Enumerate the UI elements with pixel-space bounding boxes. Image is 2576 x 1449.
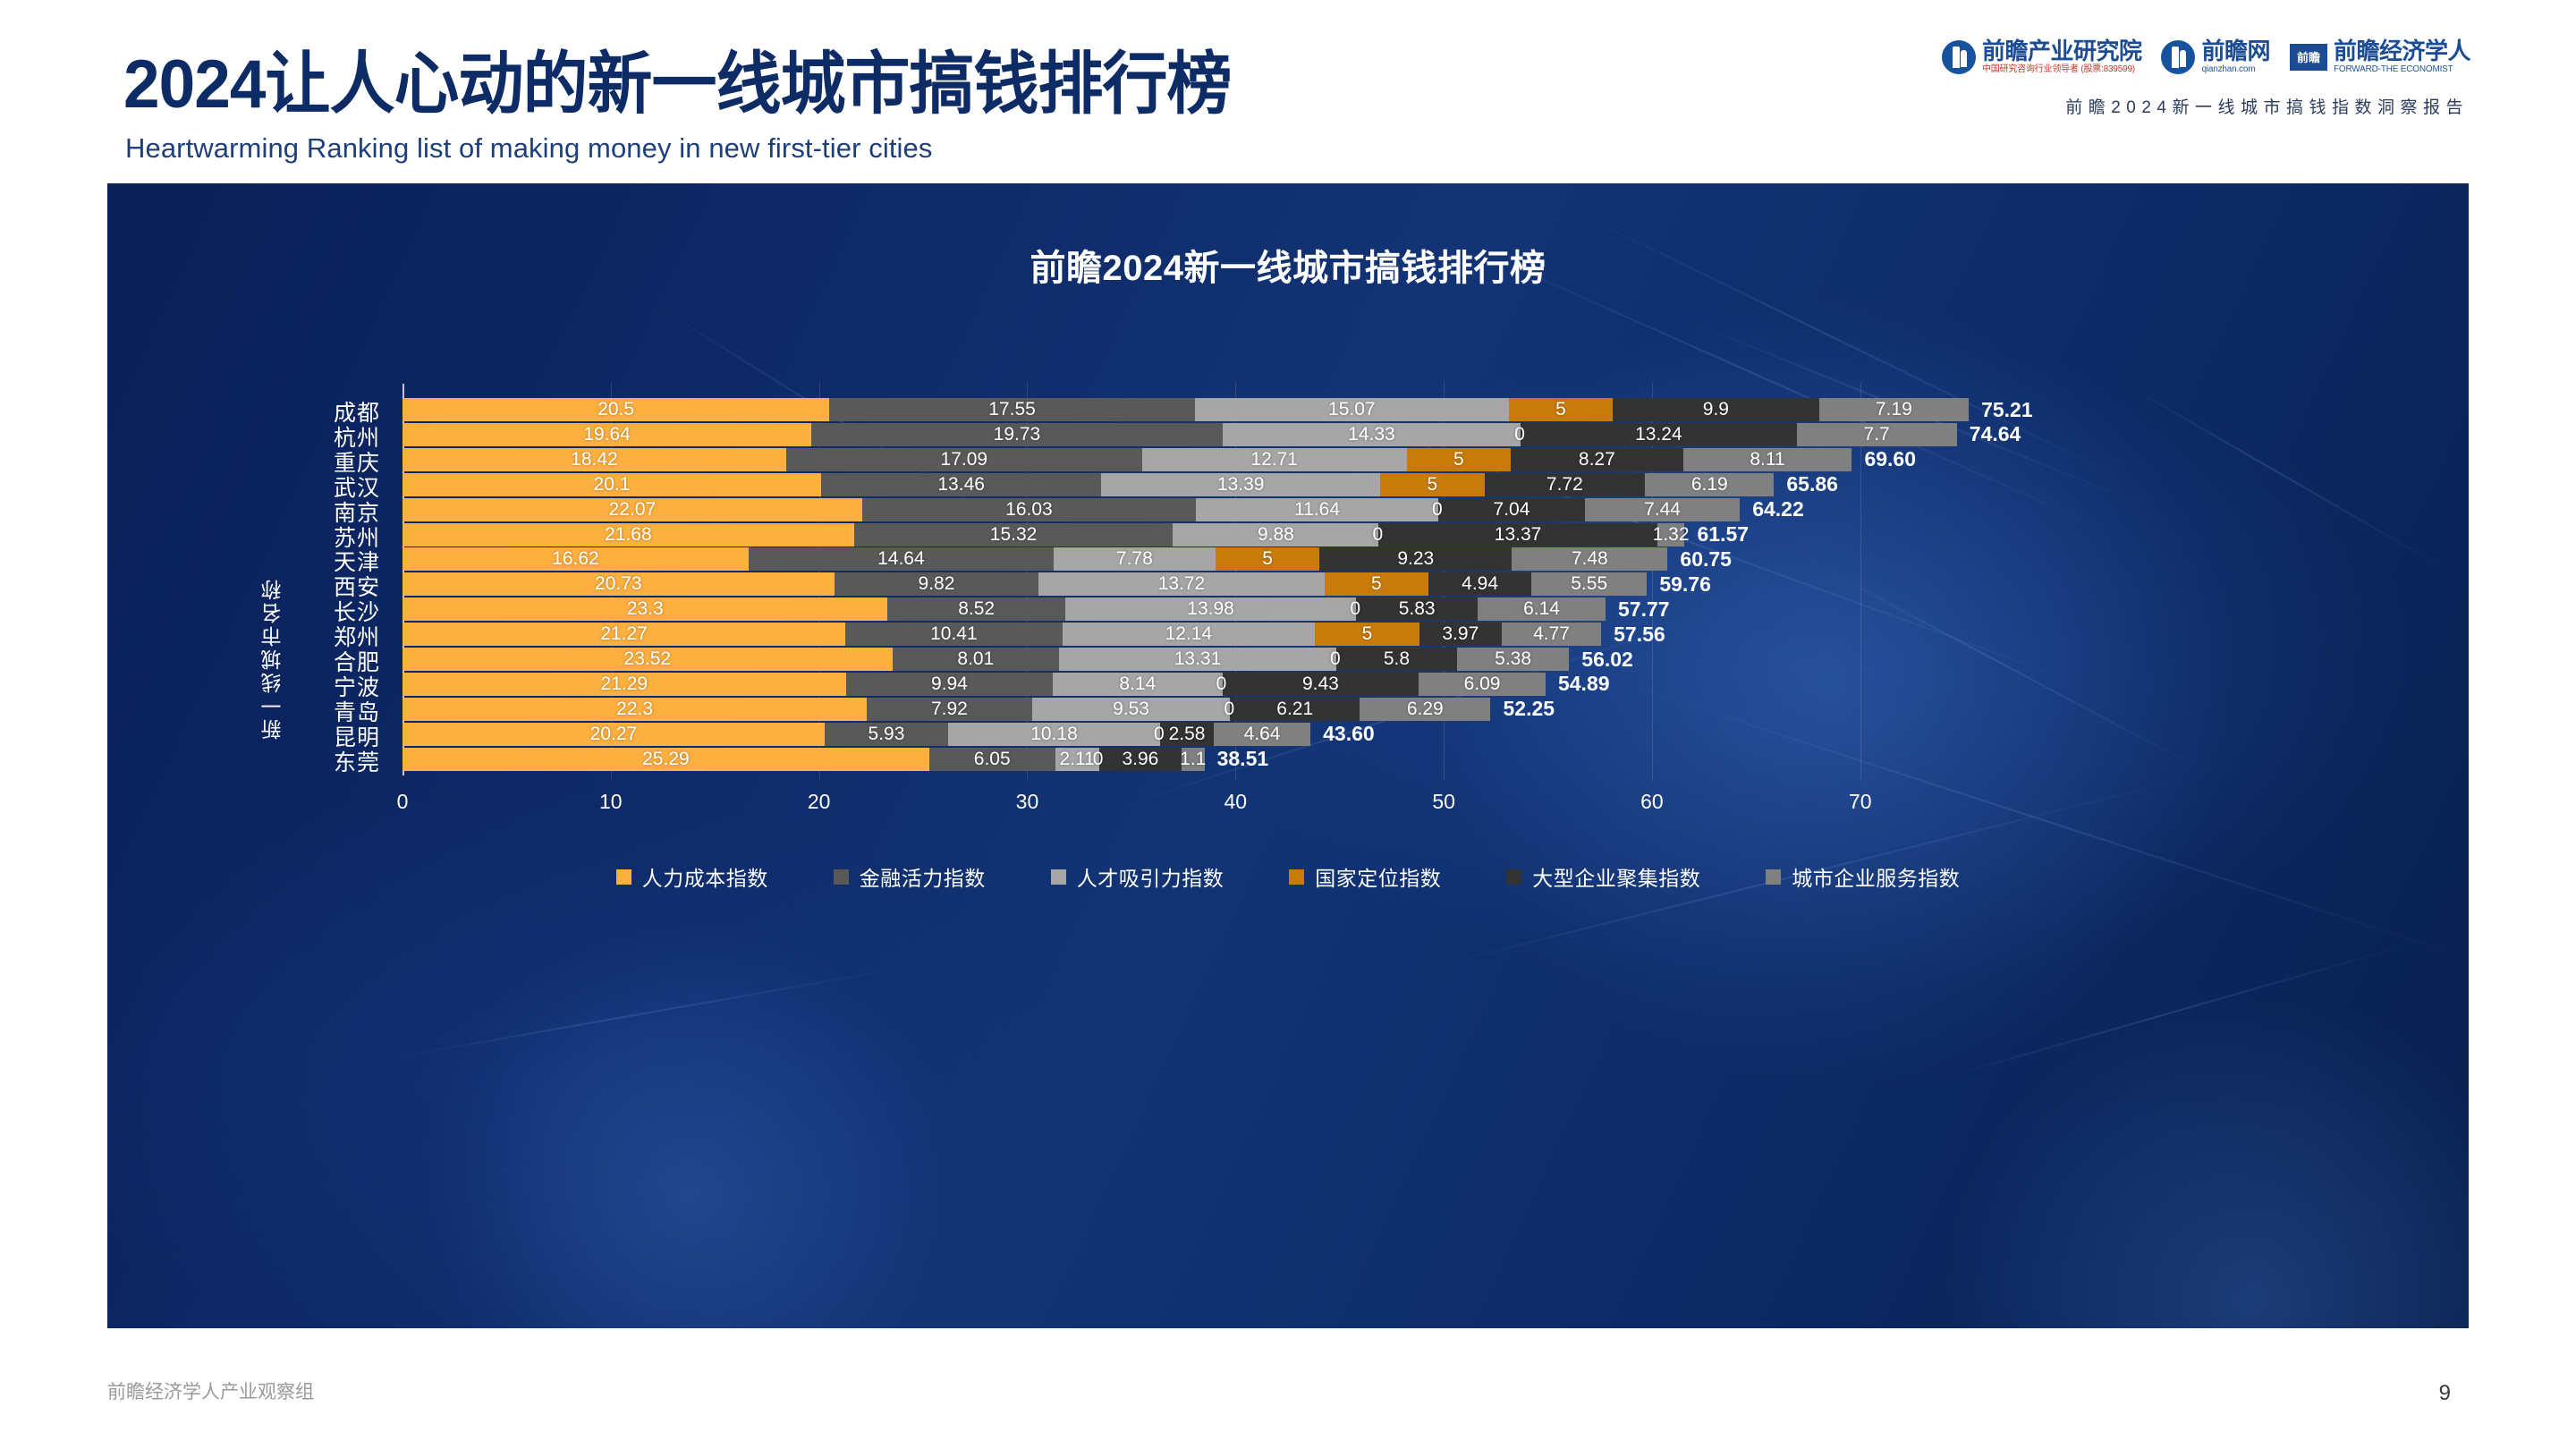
- bar-segment: 8.01: [893, 648, 1059, 671]
- bar-row: 19.6419.7314.33013.247.7: [402, 423, 1957, 446]
- bar-row: 23.528.0113.3105.85.38: [402, 648, 1569, 671]
- x-axis-tick-label: 70: [1849, 790, 1872, 814]
- logo-qianzhan-web: 前瞻网 qianzhan.com: [2161, 39, 2270, 74]
- bar-segment: 5.38: [1457, 648, 1569, 671]
- bar-segment: 7.48: [1512, 547, 1667, 571]
- segment-value-label: 14.64: [877, 548, 925, 570]
- bar-segment: 4.94: [1428, 572, 1531, 596]
- report-tagline: 前瞻2024新一线城市搞钱指数洞察报告: [2065, 94, 2469, 118]
- legend-swatch: [1289, 869, 1304, 885]
- segment-value-label: 5: [1427, 474, 1437, 496]
- legend-item[interactable]: 人才吸引力指数: [1051, 861, 1224, 892]
- bar-segment: 6.29: [1360, 698, 1490, 721]
- segment-value-label: 25.29: [642, 749, 690, 770]
- bar-segment: 8.14: [1053, 673, 1223, 696]
- segment-value-label: 6.14: [1523, 598, 1560, 620]
- bar-segment: 5: [1325, 572, 1428, 596]
- legend-label: 金融活力指数: [860, 861, 986, 892]
- segment-value-label: 16.62: [552, 548, 599, 570]
- segment-value-label: 8.52: [958, 598, 995, 620]
- bar-segment: 21.29: [402, 673, 846, 696]
- segment-value-label: 8.27: [1579, 449, 1615, 470]
- segment-value-label: 1.1: [1180, 749, 1206, 770]
- legend-swatch: [1051, 869, 1066, 885]
- bar-segment: 13.98: [1065, 597, 1356, 621]
- bar-segment: 10.18: [948, 723, 1160, 746]
- legend-item[interactable]: 人力成本指数: [616, 861, 768, 892]
- segment-value-label: 13.31: [1174, 648, 1222, 670]
- bar-row: 20.113.4613.3957.726.19: [402, 473, 1774, 496]
- logo-label-en: FORWARD-THE ECONOMIST: [2334, 65, 2470, 74]
- segment-value-label: 13.72: [1158, 573, 1206, 595]
- bar-segment: 5: [1315, 623, 1419, 646]
- logo-qianzhan-economist: 前瞻 前瞻经济学人 FORWARD-THE ECONOMIST: [2290, 39, 2470, 74]
- bar-total-label: 65.86: [1786, 473, 1838, 496]
- segment-value-label: 6.19: [1691, 474, 1728, 496]
- bar-segment: 5: [1509, 398, 1613, 421]
- qianzhan-pillar-icon: [1942, 40, 1976, 74]
- segment-value-label: 15.32: [990, 524, 1038, 546]
- legend-item[interactable]: 城市企业服务指数: [1766, 861, 1960, 892]
- page-subtitle: Heartwarming Ranking list of making mone…: [125, 132, 932, 165]
- bar-total-label: 61.57: [1698, 523, 1750, 547]
- segment-value-label: 20.27: [590, 724, 638, 745]
- segment-value-label: 5: [1555, 399, 1566, 420]
- segment-value-label: 13.24: [1635, 424, 1682, 445]
- legend-label: 大型企业聚集指数: [1532, 861, 1700, 892]
- bar-segment: 5.83: [1356, 597, 1478, 621]
- y-axis-title: 新一线城市名称: [258, 577, 288, 740]
- legend-swatch: [1766, 869, 1781, 885]
- segment-value-label: 12.14: [1165, 623, 1213, 645]
- segment-value-label: 13.37: [1495, 524, 1542, 546]
- streak-line: [1628, 684, 2469, 962]
- bar-total-label: 69.60: [1864, 448, 1916, 471]
- logo-label-cn: 前瞻产业研究院: [1982, 39, 2142, 63]
- bar-segment: 16.62: [402, 547, 749, 571]
- bar-segment: 13.24: [1521, 423, 1796, 446]
- bar-segment: 5: [1216, 547, 1319, 571]
- bar-segment: 20.1: [402, 473, 821, 496]
- bar-segment: 5.93: [825, 723, 948, 746]
- bar-segment: 12.14: [1063, 623, 1316, 646]
- bar-segment: 19.64: [402, 423, 811, 446]
- bar-segment: 18.42: [402, 448, 786, 471]
- bar-segment: 10.41: [845, 623, 1062, 646]
- segment-value-label: 0: [1514, 424, 1525, 445]
- segment-value-label: 9.53: [1113, 699, 1149, 720]
- segment-value-label: 5.8: [1384, 648, 1410, 670]
- bar-segment: 15.32: [854, 523, 1174, 547]
- bar-segment: 9.82: [835, 572, 1039, 596]
- segment-value-label: 8.01: [957, 648, 994, 670]
- segment-value-label: 0: [1350, 598, 1360, 620]
- segment-value-label: 4.64: [1244, 724, 1281, 745]
- legend-label: 人力成本指数: [642, 861, 768, 892]
- segment-value-label: 9.82: [919, 573, 955, 595]
- segment-value-label: 10.18: [1030, 724, 1078, 745]
- bar-segment: 5.55: [1531, 572, 1647, 596]
- segment-value-label: 15.07: [1328, 399, 1376, 420]
- segment-value-label: 0: [1093, 749, 1104, 770]
- segment-value-label: 0: [1154, 724, 1165, 745]
- segment-value-label: 2.58: [1169, 724, 1206, 745]
- segment-value-label: 16.03: [1005, 499, 1053, 521]
- segment-value-label: 22.3: [616, 699, 653, 720]
- segment-value-label: 11.64: [1294, 499, 1340, 521]
- logo-label-cn: 前瞻经济学人: [2334, 39, 2470, 63]
- bar-segment: 9.43: [1223, 673, 1419, 696]
- segment-value-label: 17.09: [941, 449, 988, 470]
- bar-segment: 20.27: [402, 723, 825, 746]
- streak-line: [1807, 559, 2218, 779]
- segment-value-label: 0: [1224, 699, 1234, 720]
- segment-value-label: 4.94: [1462, 573, 1498, 595]
- bar-segment: 7.92: [867, 698, 1031, 721]
- chart-legend: 人力成本指数金融活力指数人才吸引力指数国家定位指数大型企业聚集指数城市企业服务指…: [107, 861, 2469, 892]
- bar-segment: 1.32: [1657, 523, 1685, 547]
- segment-value-label: 21.68: [605, 524, 652, 546]
- category-label: 东莞: [334, 745, 380, 777]
- bar-segment: 7.04: [1438, 498, 1585, 521]
- footer-page-number: 9: [2439, 1381, 2451, 1406]
- bar-total-label: 59.76: [1659, 572, 1711, 596]
- bar-segment: 22.3: [402, 698, 867, 721]
- segment-value-label: 13.39: [1217, 474, 1265, 496]
- legend-swatch: [834, 869, 849, 885]
- bar-segment: 14.64: [749, 547, 1054, 571]
- bar-segment: 7.78: [1054, 547, 1216, 571]
- x-axis-tick-label: 0: [397, 790, 409, 814]
- bar-segment: 16.03: [862, 498, 1196, 521]
- x-axis-tick-label: 30: [1016, 790, 1039, 814]
- bar-total-label: 57.77: [1618, 597, 1670, 621]
- segment-value-label: 7.78: [1116, 548, 1153, 570]
- bar-row: 18.4217.0912.7158.278.11: [402, 448, 1851, 471]
- bar-segment: 15.07: [1195, 398, 1509, 421]
- logo-label-en: 中国研究咨询行业领导者 (股票:839599): [1982, 65, 2142, 74]
- bar-segment: 22.07: [402, 498, 862, 521]
- segment-value-label: 5.83: [1399, 598, 1436, 620]
- segment-value-label: 8.14: [1119, 674, 1156, 695]
- bar-segment: 8.52: [887, 597, 1064, 621]
- bar-segment: 5: [1380, 473, 1484, 496]
- bar-row: 16.6214.647.7859.237.48: [402, 547, 1667, 571]
- bar-row: 20.739.8213.7254.945.55: [402, 572, 1647, 596]
- logo-label-en: qianzhan.com: [2201, 65, 2270, 74]
- segment-value-label: 22.07: [609, 499, 657, 521]
- logo-qianzhan-research: 前瞻产业研究院 中国研究咨询行业领导者 (股票:839599): [1942, 39, 2142, 74]
- bar-segment: 9.9: [1613, 398, 1818, 421]
- segment-value-label: 19.64: [583, 424, 631, 445]
- bar-total-label: 57.56: [1614, 623, 1665, 646]
- segment-value-label: 13.98: [1187, 598, 1234, 620]
- bar-row: 22.37.929.5306.216.29: [402, 698, 1490, 721]
- bar-segment: 6.05: [929, 748, 1055, 771]
- bar-total-label: 52.25: [1504, 698, 1555, 721]
- bar-total-label: 54.89: [1558, 673, 1610, 696]
- legend-label: 人才吸引力指数: [1077, 861, 1224, 892]
- legend-swatch: [616, 869, 631, 885]
- chart-panel: 前瞻2024新一线城市搞钱排行榜 新一线城市名称 成都杭州重庆武汉南京苏州天津西…: [107, 183, 2469, 1328]
- segment-value-label: 21.29: [601, 674, 648, 695]
- legend-item[interactable]: 国家定位指数: [1289, 861, 1441, 892]
- streak-line: [376, 963, 922, 1062]
- bar-segment: 25.29: [402, 748, 929, 771]
- segment-value-label: 6.09: [1464, 674, 1501, 695]
- bar-segment: 11.64: [1196, 498, 1438, 521]
- bar-total-label: 43.60: [1323, 723, 1375, 746]
- segment-value-label: 4.77: [1533, 623, 1570, 645]
- bar-segment: 13.72: [1038, 572, 1324, 596]
- bar-row: 21.6815.329.88013.371.32: [402, 523, 1684, 547]
- bar-segment: 5: [1407, 448, 1511, 471]
- segment-value-label: 21.27: [600, 623, 648, 645]
- segment-value-label: 9.23: [1397, 548, 1434, 570]
- segment-value-label: 5.93: [869, 724, 905, 745]
- segment-value-label: 7.04: [1494, 499, 1530, 521]
- segment-value-label: 5: [1453, 449, 1464, 470]
- bar-segment: 13.37: [1378, 523, 1657, 547]
- bar-total-label: 75.21: [1981, 398, 2033, 421]
- bar-row: 20.275.9310.1802.584.64: [402, 723, 1310, 746]
- segment-value-label: 20.73: [595, 573, 642, 595]
- segment-value-label: 9.9: [1703, 399, 1729, 420]
- bar-total-label: 74.64: [1970, 423, 2021, 446]
- streak-line: [1941, 940, 2423, 1080]
- segment-value-label: 5: [1371, 573, 1382, 595]
- legend-label: 国家定位指数: [1315, 861, 1441, 892]
- bar-segment: 23.52: [402, 648, 893, 671]
- bar-segment: 14.33: [1223, 423, 1521, 446]
- page-title: 2024让人心动的新一线城市搞钱排行榜: [123, 29, 1231, 127]
- bar-total-label: 64.22: [1752, 498, 1804, 521]
- segment-value-label: 6.29: [1407, 699, 1444, 720]
- bar-segment: 3.97: [1419, 623, 1502, 646]
- chart-title: 前瞻2024新一线城市搞钱排行榜: [107, 239, 2469, 291]
- bar-segment: 7.72: [1485, 473, 1646, 496]
- segment-value-label: 5.55: [1571, 573, 1607, 595]
- footer-source: 前瞻经济学人产业观察组: [107, 1377, 314, 1404]
- bar-row: 21.2710.4112.1453.974.77: [402, 623, 1601, 646]
- logo-label-cn: 前瞻网: [2201, 39, 2270, 63]
- bar-segment: 20.5: [402, 398, 829, 421]
- legend-item[interactable]: 大型企业聚集指数: [1506, 861, 1700, 892]
- segment-value-label: 13.46: [937, 474, 985, 496]
- bar-segment: 9.88: [1173, 523, 1378, 547]
- segment-value-label: 5.38: [1495, 648, 1531, 670]
- x-axis-tick-label: 50: [1432, 790, 1455, 814]
- segment-value-label: 0: [1372, 524, 1383, 546]
- bar-segment: 6.14: [1478, 597, 1606, 621]
- bar-segment: 2.58: [1160, 723, 1214, 746]
- segment-value-label: 5: [1362, 623, 1373, 645]
- bar-segment: 7.44: [1585, 498, 1740, 521]
- segment-value-label: 9.94: [931, 674, 968, 695]
- segment-value-label: 23.3: [627, 598, 664, 620]
- segment-value-label: 3.97: [1442, 623, 1479, 645]
- segment-value-label: 7.92: [931, 699, 968, 720]
- segment-value-label: 6.05: [974, 749, 1011, 770]
- bar-total-label: 60.75: [1680, 547, 1732, 571]
- segment-value-label: 8.11: [1750, 449, 1784, 470]
- bar-row: 22.0716.0311.6407.047.44: [402, 498, 1740, 521]
- page-header: 2024让人心动的新一线城市搞钱排行榜 Heartwarming Ranking…: [0, 0, 2576, 183]
- bar-row: 20.517.5515.0759.97.19: [402, 398, 1969, 421]
- bar-segment: 9.94: [846, 673, 1053, 696]
- bar-segment: 23.3: [402, 597, 887, 621]
- bar-total-label: 56.02: [1581, 648, 1633, 671]
- segment-value-label: 1.32: [1653, 524, 1690, 546]
- qianzhan-box-icon: 前瞻: [2290, 44, 2327, 71]
- segment-value-label: 7.7: [1864, 424, 1890, 445]
- bar-segment: 21.27: [402, 623, 845, 646]
- segment-value-label: 3.96: [1122, 749, 1158, 770]
- bar-segment: 4.77: [1502, 623, 1601, 646]
- bar-segment: 7.19: [1819, 398, 1969, 421]
- x-axis-tick-label: 20: [808, 790, 831, 814]
- x-axis-tick-label: 10: [599, 790, 623, 814]
- segment-value-label: 0: [1432, 499, 1443, 521]
- segment-value-label: 5: [1262, 548, 1273, 570]
- segment-value-label: 19.73: [994, 424, 1041, 445]
- bar-segment: 20.73: [402, 572, 835, 596]
- bar-segment: 17.09: [786, 448, 1142, 471]
- bar-segment: 13.31: [1059, 648, 1336, 671]
- legend-swatch: [1506, 869, 1521, 885]
- segment-value-label: 0: [1330, 648, 1341, 670]
- glow-blob: [411, 917, 966, 1328]
- segment-value-label: 7.48: [1572, 548, 1608, 570]
- segment-value-label: 18.42: [571, 449, 618, 470]
- bar-segment: 9.53: [1032, 698, 1231, 721]
- segment-value-label: 12.71: [1250, 449, 1298, 470]
- segment-value-label: 7.72: [1546, 474, 1583, 496]
- bar-row: 23.38.5213.9805.836.14: [402, 597, 1606, 621]
- bar-segment: 17.55: [829, 398, 1195, 421]
- bar-segment: 5.8: [1336, 648, 1457, 671]
- x-axis-tick-label: 40: [1224, 790, 1248, 814]
- bar-segment: 13.39: [1101, 473, 1380, 496]
- segment-value-label: 14.33: [1348, 424, 1395, 445]
- bar-row: 21.299.948.1409.436.09: [402, 673, 1546, 696]
- bar-segment: 21.68: [402, 523, 854, 547]
- segment-value-label: 0: [1216, 674, 1227, 695]
- brand-logo-row: 前瞻产业研究院 中国研究咨询行业领导者 (股票:839599) 前瞻网 qian…: [1942, 39, 2470, 74]
- glow-blob: [1941, 988, 2469, 1328]
- bar-row: 25.296.052.1103.961.1: [402, 748, 1205, 771]
- segment-value-label: 9.88: [1258, 524, 1294, 546]
- bar-segment: 19.73: [811, 423, 1222, 446]
- bar-segment: 12.71: [1142, 448, 1407, 471]
- legend-item[interactable]: 金融活力指数: [834, 861, 986, 892]
- bar-segment: 6.21: [1230, 698, 1360, 721]
- bar-total-label: 38.51: [1217, 748, 1269, 771]
- bar-segment: 8.27: [1511, 448, 1683, 471]
- segment-value-label: 2.11: [1060, 749, 1095, 770]
- bar-segment: 7.7: [1797, 423, 1957, 446]
- segment-value-label: 7.19: [1876, 399, 1912, 420]
- bar-segment: 9.23: [1319, 547, 1512, 571]
- streak-line: [2120, 380, 2446, 570]
- bar-segment: 6.09: [1419, 673, 1546, 696]
- bar-segment: 13.46: [821, 473, 1101, 496]
- bar-segment: 4.64: [1214, 723, 1310, 746]
- x-axis-tick-label: 60: [1640, 790, 1664, 814]
- segment-value-label: 9.43: [1302, 674, 1339, 695]
- bar-segment: 3.96: [1099, 748, 1182, 771]
- segment-value-label: 23.52: [624, 648, 672, 670]
- segment-value-label: 17.55: [988, 399, 1036, 420]
- legend-label: 城市企业服务指数: [1792, 861, 1960, 892]
- segment-value-label: 6.21: [1276, 699, 1313, 720]
- segment-value-label: 10.41: [930, 623, 978, 645]
- segment-value-label: 20.1: [594, 474, 631, 496]
- bar-segment: 6.19: [1645, 473, 1774, 496]
- bar-segment: 1.1: [1182, 748, 1205, 771]
- segment-value-label: 7.44: [1644, 499, 1681, 521]
- qianzhan-pillar-icon: [2161, 40, 2195, 74]
- bar-segment: 8.11: [1683, 448, 1852, 471]
- segment-value-label: 20.5: [597, 399, 634, 420]
